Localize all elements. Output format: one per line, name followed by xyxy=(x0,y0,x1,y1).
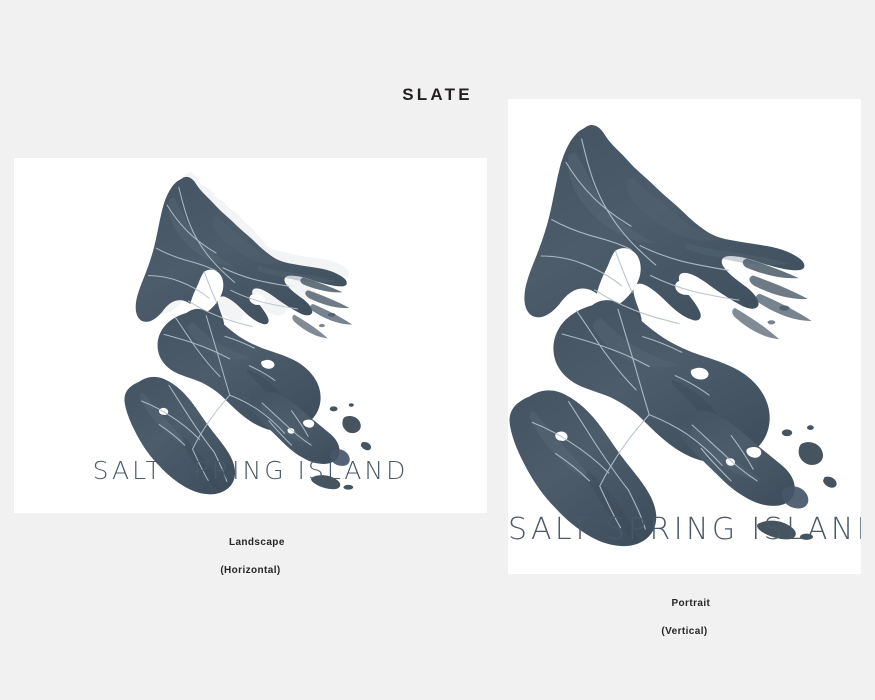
caption-portrait-line2: (Vertical) xyxy=(508,625,861,639)
caption-portrait-line1: Portrait xyxy=(671,598,710,609)
caption-landscape-line2: (Horizontal) xyxy=(14,564,487,578)
caption-portrait: Portrait (Vertical) xyxy=(508,583,861,667)
caption-landscape-line1: Landscape xyxy=(229,537,285,548)
product-preview-stage: SLATE xyxy=(0,0,875,700)
poster-landscape[interactable]: SALT SPRING ISLAND xyxy=(14,158,487,513)
poster-portrait[interactable]: SALT SPRING ISLAND xyxy=(508,99,861,574)
poster-map-title-portrait: SALT SPRING ISLAND xyxy=(508,512,861,547)
caption-landscape: Landscape (Horizontal) xyxy=(14,522,487,606)
poster-map-title-landscape: SALT SPRING ISLAND xyxy=(14,456,487,485)
map-art-portrait xyxy=(508,99,861,574)
